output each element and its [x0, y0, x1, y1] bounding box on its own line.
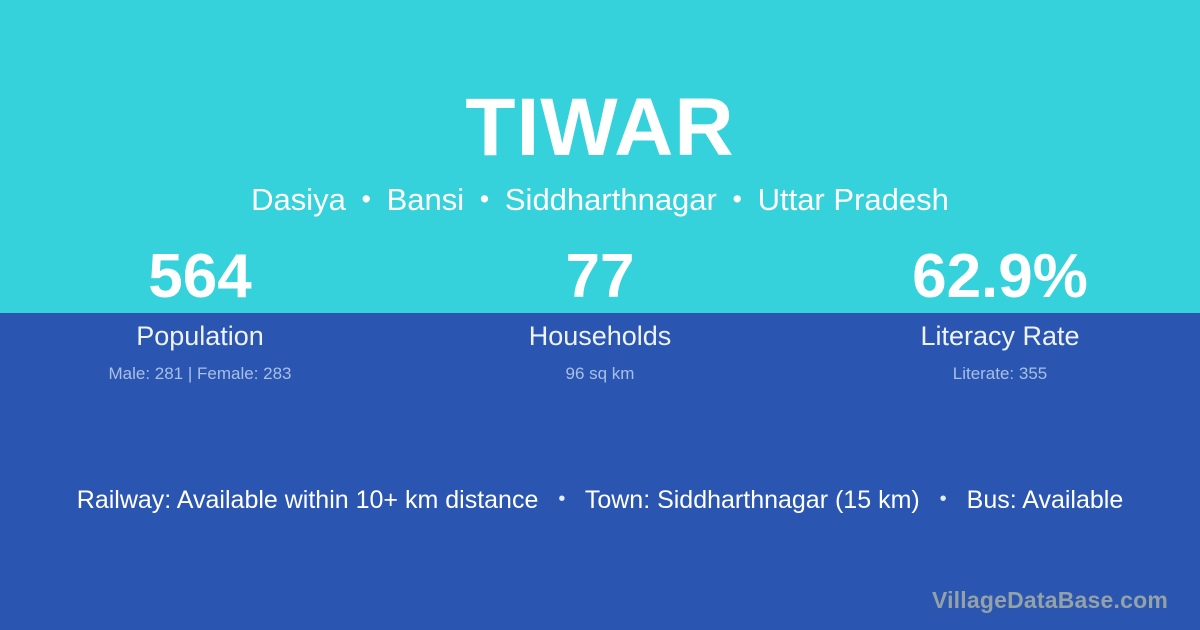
- stat-value: 77: [400, 243, 800, 311]
- connectivity-town: Town: Siddharthnagar (15 km): [585, 486, 920, 514]
- connectivity-separator: •: [927, 488, 960, 510]
- breadcrumb-state: Uttar Pradesh: [758, 182, 949, 217]
- breadcrumb-separator: •: [473, 184, 496, 214]
- stat-label: Literacy Rate: [800, 320, 1200, 352]
- page-title: TIWAR: [0, 83, 1200, 173]
- stat-label: Households: [400, 320, 800, 352]
- breadcrumb-panchayat: Dasiya: [251, 182, 346, 217]
- stat-population: 564 Population Male: 281 | Female: 283: [0, 243, 400, 385]
- breadcrumb-district: Siddharthnagar: [505, 182, 717, 217]
- stat-sublabel: 96 sq km: [400, 363, 800, 385]
- stat-households: 77 Households 96 sq km: [400, 243, 800, 385]
- site-brand-watermark: VillageDataBase.com: [932, 586, 1168, 614]
- stats-row: 564 Population Male: 281 | Female: 283 7…: [0, 243, 1200, 385]
- breadcrumb-separator: •: [355, 184, 378, 214]
- stat-literacy-rate: 62.9% Literacy Rate Literate: 355: [800, 243, 1200, 385]
- connectivity-railway: Railway: Available within 10+ km distanc…: [77, 486, 539, 514]
- stat-sublabel: Male: 281 | Female: 283: [0, 363, 400, 385]
- connectivity-bus: Bus: Available: [967, 486, 1124, 514]
- stat-value: 62.9%: [800, 243, 1200, 311]
- connectivity-info: Railway: Available within 10+ km distanc…: [0, 484, 1200, 518]
- stat-value: 564: [0, 243, 400, 311]
- breadcrumb-block: Bansi: [387, 182, 465, 217]
- stat-sublabel: Literate: 355: [800, 363, 1200, 385]
- breadcrumb: Dasiya • Bansi • Siddharthnagar • Uttar …: [0, 182, 1200, 219]
- connectivity-separator: •: [545, 488, 578, 510]
- breadcrumb-separator: •: [726, 184, 749, 214]
- stat-label: Population: [0, 320, 400, 352]
- village-info-card: TIWAR Dasiya • Bansi • Siddharthnagar • …: [0, 0, 1200, 630]
